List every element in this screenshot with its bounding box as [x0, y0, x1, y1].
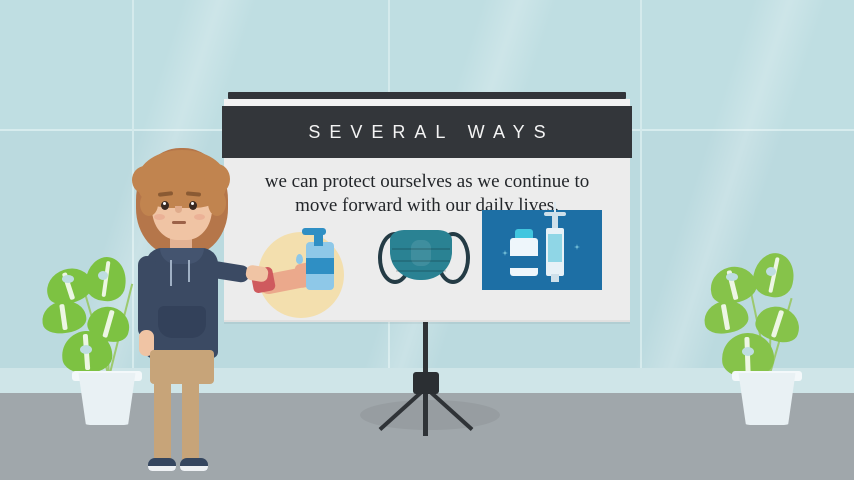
eye-highlight-right	[191, 202, 194, 205]
plant-leaf	[40, 298, 88, 336]
hand-right	[245, 264, 269, 282]
mask-center-panel	[411, 240, 431, 266]
syringe-tip	[551, 274, 559, 282]
plant-leaf-notch	[62, 275, 74, 283]
eye-highlight-left	[163, 202, 166, 205]
mouth	[172, 221, 186, 224]
board-top-rail	[228, 92, 626, 99]
shoe-sole-right	[180, 466, 208, 471]
shoe-left	[148, 458, 176, 471]
board-bottom-shadow	[224, 320, 630, 324]
board-title: SEVERAL WAYS	[299, 122, 554, 143]
vaccine-icon	[482, 210, 602, 290]
face-mask-icon	[378, 226, 464, 286]
hair-curl	[140, 192, 158, 216]
monstera-plant-right	[700, 245, 840, 425]
shoe-right	[180, 458, 208, 471]
arm-left	[138, 256, 156, 338]
hair-curl	[208, 190, 226, 216]
presentation-board[interactable]: SEVERAL WAYS we can protect ourselves as…	[222, 92, 632, 323]
syringe-liquid	[548, 234, 562, 262]
tripod-hub	[413, 372, 439, 394]
plant-leaf-notch	[766, 267, 776, 276]
board-header: SEVERAL WAYS	[222, 106, 632, 158]
tripod-stand	[365, 322, 489, 440]
shoe-sole-left	[148, 466, 176, 471]
scene-root: SEVERAL WAYS we can protect ourselves as…	[0, 0, 854, 480]
vaccine-vial-label	[510, 256, 538, 268]
plant-pot	[736, 373, 798, 425]
mask-pleat	[396, 270, 446, 272]
sanitizer-pump	[302, 228, 326, 235]
hair-curl	[132, 166, 158, 194]
sanitizer-bottle-label	[306, 258, 334, 274]
board-icon-row	[222, 210, 632, 310]
hoodie-pocket	[158, 306, 206, 338]
blush-right	[194, 214, 205, 220]
sparkle-icon	[574, 244, 580, 250]
wall-vertical-line-2	[640, 0, 642, 393]
torso-hoodie	[146, 248, 218, 358]
blush-left	[154, 214, 165, 220]
mask-pleat	[392, 260, 450, 262]
leg-left	[154, 378, 171, 464]
plant-leaf	[702, 297, 751, 336]
hoodie-drawstring-right	[188, 260, 190, 282]
plant-leaf-notch	[726, 273, 738, 281]
presenter	[120, 148, 260, 473]
plant-leaf-notch	[80, 345, 92, 354]
board-rail-gap	[224, 99, 630, 106]
sparkle-icon	[502, 250, 508, 256]
plant-leaf-notch	[98, 271, 108, 280]
nose	[175, 206, 182, 213]
plant-leaf-notch	[742, 347, 754, 356]
hoodie-drawstring-left	[170, 260, 172, 286]
leg-right	[182, 378, 199, 464]
mask-pleat	[392, 248, 450, 250]
